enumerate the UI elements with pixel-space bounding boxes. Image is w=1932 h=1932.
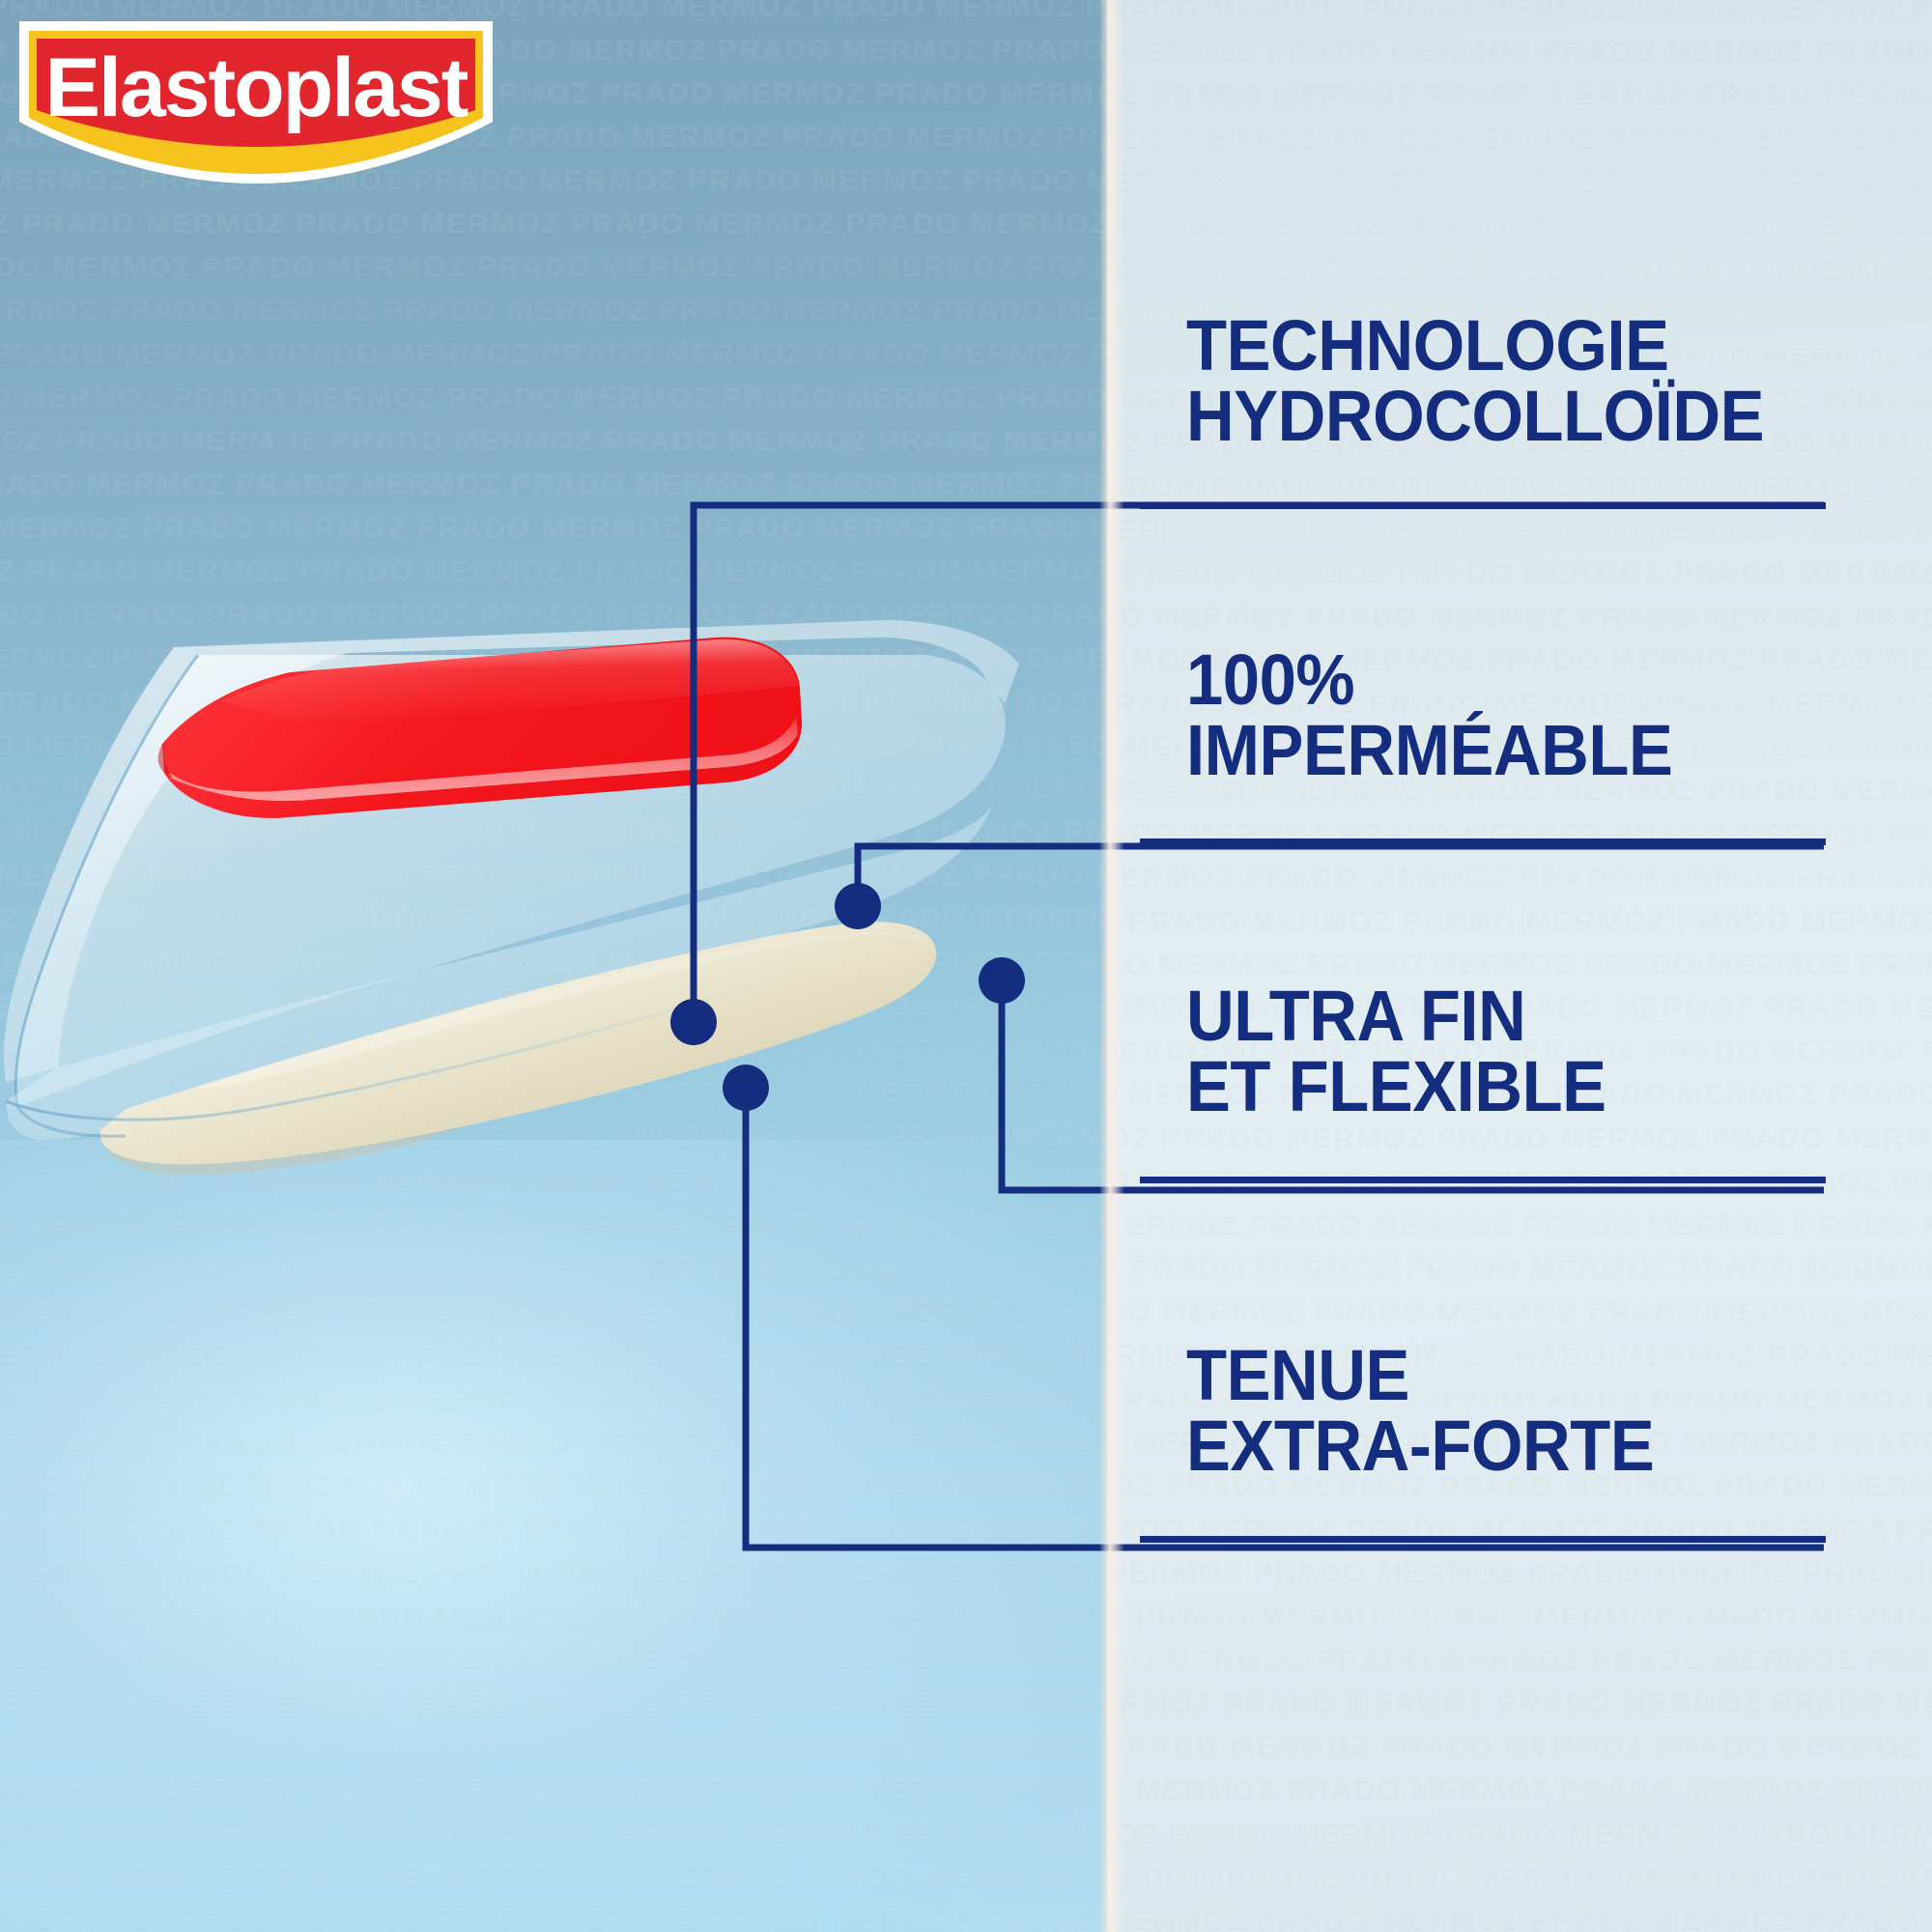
feature-rule-2 xyxy=(1140,838,1826,845)
feature-line-1a: TECHNOLOGIE xyxy=(1186,311,1779,382)
left-image-panel xyxy=(0,0,1107,1932)
brand-logo: Elastoplast xyxy=(15,17,497,187)
product-infographic: PRADO MERMOZ PRADO MERMOZ PRADO MERMOZ P… xyxy=(0,0,1932,1932)
feature-line-4b: EXTRA-FORTE xyxy=(1186,1411,1779,1482)
feature-tenue-extra-forte: TENUE EXTRA-FORTE xyxy=(1186,1341,1824,1481)
feature-100-impermeable: 100% IMPERMÉABLE xyxy=(1186,645,1824,785)
feature-technologie-hydrocolloide: TECHNOLOGIE HYDROCOLLOÏDE xyxy=(1186,311,1824,451)
logo-wordmark: Elastoplast xyxy=(15,46,497,129)
feature-rule-4 xyxy=(1140,1536,1826,1543)
feature-line-3b: ET FLEXIBLE xyxy=(1186,1052,1779,1122)
feature-line-4a: TENUE xyxy=(1186,1341,1779,1411)
feature-line-2a: 100% xyxy=(1186,645,1779,716)
feature-line-3a: ULTRA FIN xyxy=(1186,981,1779,1052)
feature-ultra-fin-et-flexible: ULTRA FIN ET FLEXIBLE xyxy=(1186,981,1824,1122)
feature-line-1b: HYDROCOLLOÏDE xyxy=(1186,382,1779,452)
feature-line-2b: IMPERMÉABLE xyxy=(1186,716,1779,786)
feature-rule-3 xyxy=(1140,1177,1826,1183)
feature-rule-1 xyxy=(1140,502,1826,509)
feature-list: TECHNOLOGIE HYDROCOLLOÏDE 100% IMPERMÉAB… xyxy=(1186,0,1862,1932)
